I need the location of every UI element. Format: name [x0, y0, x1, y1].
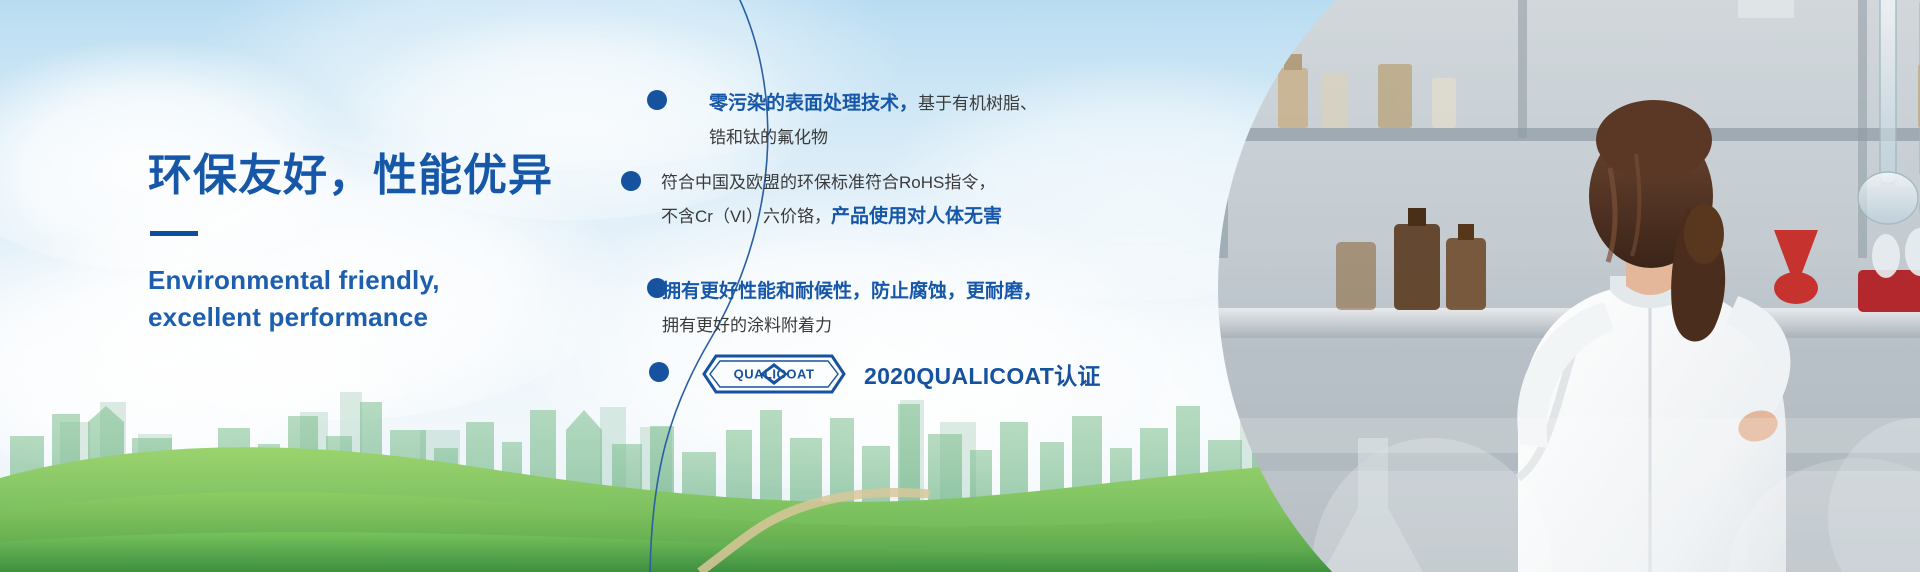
feature-item-3-text: 拥有更好性能和耐候性，防止腐蚀，更耐磨， 拥有更好的涂料附着力	[662, 274, 1042, 342]
bullet-dot-icon	[621, 171, 641, 191]
feature-item-2-line1: 符合中国及欧盟的环保标准符合RoHS指令，	[661, 167, 1002, 199]
feature-item-1-line2: 锆和钛的氟化物	[709, 122, 1037, 154]
feature-item-2-line2-normal: 不含Cr（VI）六价铬，	[661, 207, 831, 226]
bullet-dot-icon	[649, 362, 669, 382]
qualicoat-logo-icon: QUALICOAT	[700, 352, 848, 396]
lab-photo	[1218, 0, 1920, 572]
hero-banner: 环保友好，性能优异 Environmental friendly, excell…	[0, 0, 1920, 572]
feature-item-2-line2-strong: 产品使用对人体无害	[831, 206, 1002, 227]
feature-item-3-line2: 拥有更好的涂料附着力	[662, 310, 1042, 342]
feature-item-1-line1: 零污染的表面处理技术，基于有机树脂、	[709, 86, 1037, 122]
svg-text:QUALICOAT: QUALICOAT	[734, 367, 815, 382]
feature-item-1-line1-strong: 零污染的表面处理技术，	[709, 93, 918, 114]
feature-item-1-line2-normal: 锆和钛的氟化物	[709, 128, 828, 147]
feature-item-1-text: 零污染的表面处理技术，基于有机树脂、 锆和钛的氟化物	[709, 86, 1037, 154]
certification-row: QUALICOAT 2020QUALICOAT认证	[700, 352, 1101, 396]
bullet-dot-icon	[647, 90, 667, 110]
feature-item-2-text: 符合中国及欧盟的环保标准符合RoHS指令， 不含Cr（VI）六价铬，产品使用对人…	[661, 167, 1002, 235]
feature-item-3-line1-strong: 拥有更好性能和耐候性，防止腐蚀，更耐磨，	[662, 281, 1042, 302]
feature-item-2-line1-normal: 符合中国及欧盟的环保标准符合RoHS指令，	[661, 173, 995, 192]
feature-item-2-line2: 不含Cr（VI）六价铬，产品使用对人体无害	[661, 199, 1002, 235]
feature-item-3-line2-normal: 拥有更好的涂料附着力	[662, 316, 832, 335]
lab-photo-image	[1218, 0, 1920, 572]
certification-label: 2020QUALICOAT认证	[864, 357, 1101, 391]
feature-item-1-line1-normal: 基于有机树脂、	[918, 94, 1037, 113]
feature-item-3-line1: 拥有更好性能和耐候性，防止腐蚀，更耐磨，	[662, 274, 1042, 310]
